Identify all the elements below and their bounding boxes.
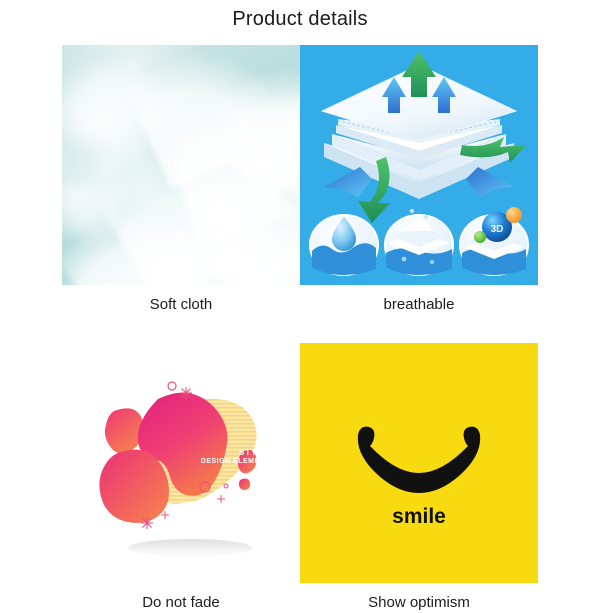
caption-soft-cloth: Soft cloth [62, 295, 300, 315]
grid-item-soft-cloth[interactable]: Soft cloth [62, 45, 300, 315]
decor-asterisk [180, 387, 192, 399]
blob-pink-small-left [105, 408, 144, 453]
caption-show-optimism: Show optimism [300, 593, 538, 613]
smile-illustration: smile [300, 343, 538, 583]
decor-asterisk [161, 511, 169, 519]
decor-asterisk [141, 517, 153, 529]
abstract-blob-illustration [62, 343, 300, 583]
caption-do-not-fade: Do not fade [62, 593, 300, 613]
smile-label: smile [392, 505, 446, 528]
soft-cloth-image[interactable] [62, 45, 300, 285]
grid-item-breathable[interactable]: 3D breathable [300, 45, 538, 315]
detail-circle-layered-pad [385, 209, 453, 275]
blob-pink-dot-right [239, 479, 250, 491]
layered-fabric-illustration: 3D [300, 45, 538, 285]
do-not-fade-image[interactable]: STYLE DESIGN ELEMENT [62, 343, 300, 583]
product-details-grid: Soft cloth [62, 45, 538, 613]
sphere-label: 3D [491, 224, 504, 235]
grid-row-1: Soft cloth [62, 45, 538, 315]
grid-item-show-optimism[interactable]: smile Show optimism [300, 343, 538, 613]
caption-breathable: breathable [300, 295, 538, 315]
page-title: Product details [0, 8, 600, 31]
grid-item-do-not-fade[interactable]: STYLE DESIGN ELEMENT Do not fade [62, 343, 300, 613]
smile-curve [358, 427, 480, 493]
decor-circle [224, 484, 228, 488]
decor-asterisk [217, 495, 225, 503]
grid-row-2: STYLE DESIGN ELEMENT Do not fade smile S… [62, 343, 538, 613]
decor-circle [168, 382, 176, 390]
detail-circle-3d-sphere: 3D [460, 207, 528, 275]
show-optimism-image[interactable]: smile [300, 343, 538, 583]
detail-circle-water-droplet [310, 215, 378, 275]
breathable-image[interactable]: 3D [300, 45, 538, 285]
